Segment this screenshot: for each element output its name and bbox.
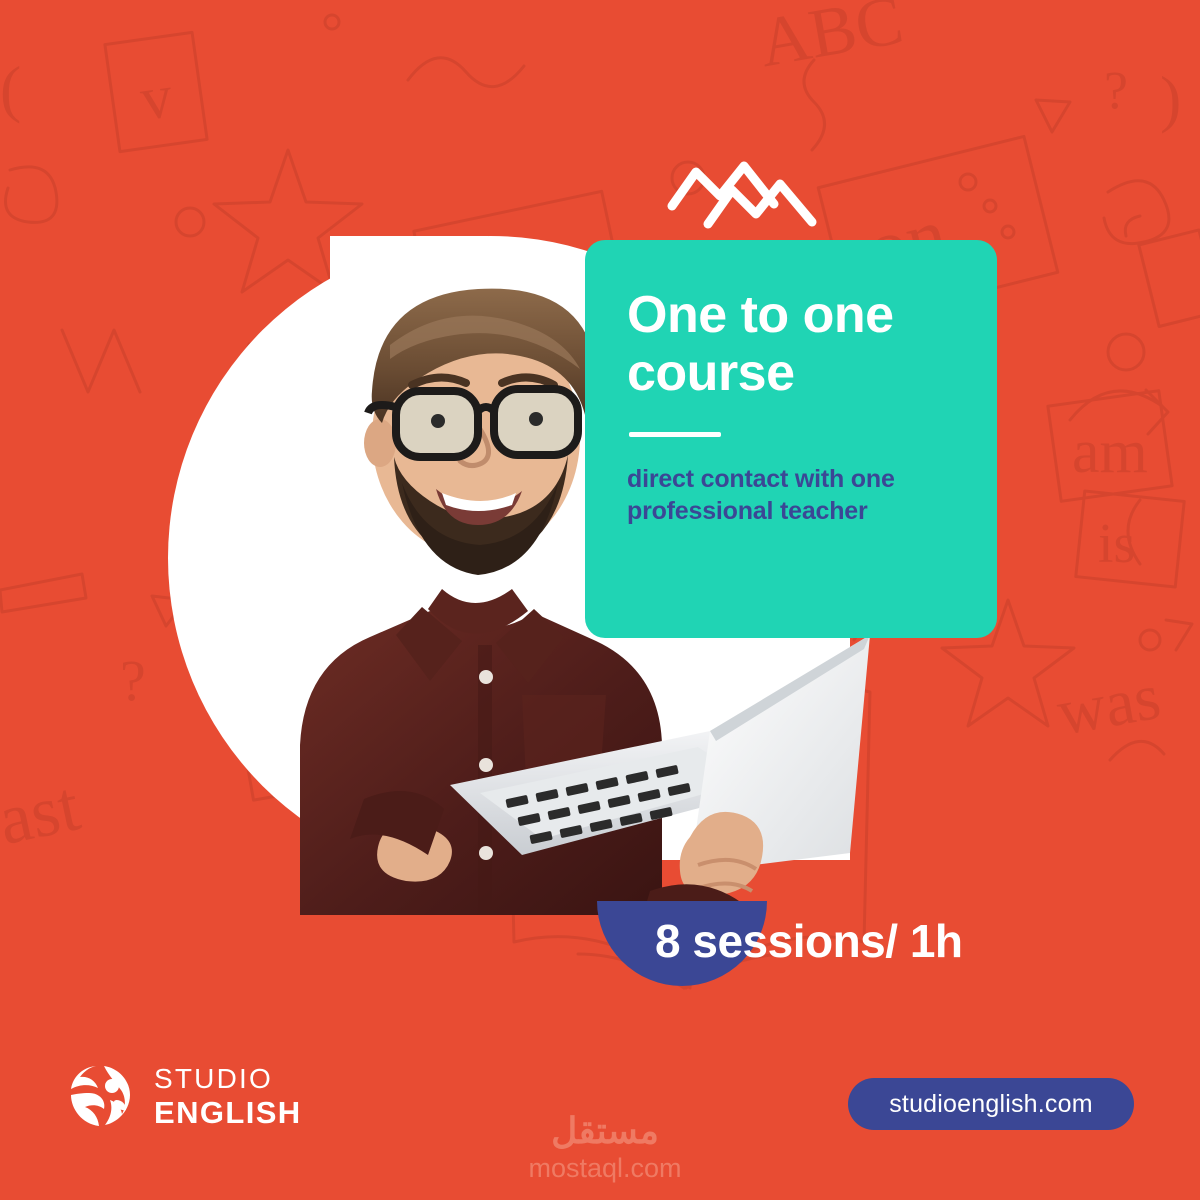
- course-card: One to one course direct contact with on…: [585, 240, 997, 638]
- svg-text:): ): [1160, 63, 1181, 134]
- svg-text:?: ?: [120, 648, 146, 713]
- watermark-latin: mostaql.com: [470, 1152, 740, 1184]
- svg-text:ast: ast: [0, 765, 86, 860]
- studio-english-mark-icon: [68, 1062, 136, 1130]
- mostaql-watermark: مستقل mostaql.com: [470, 1112, 740, 1184]
- svg-text:ABC: ABC: [753, 0, 908, 82]
- logo-line-1: STUDIO: [154, 1065, 302, 1093]
- svg-text:?: ?: [1104, 60, 1128, 120]
- svg-text:(: (: [0, 53, 21, 124]
- website-pill[interactable]: studioenglish.com: [848, 1078, 1134, 1130]
- svg-text:was: was: [1052, 660, 1166, 750]
- svg-text:v: v: [136, 62, 176, 134]
- double-wave-squiggle-icon: [666, 150, 856, 230]
- card-title: One to one course: [627, 286, 957, 402]
- svg-text:is: is: [1098, 513, 1135, 575]
- sessions-label: 8 sessions/ 1h: [585, 911, 1105, 971]
- logo-line-2: ENGLISH: [154, 1097, 302, 1128]
- website-url-label: studioenglish.com: [889, 1090, 1093, 1119]
- card-subtitle: direct contact with one professional tea…: [627, 463, 957, 527]
- watermark-arabic: مستقل: [470, 1112, 740, 1150]
- svg-text:am: am: [1072, 418, 1148, 486]
- poster-canvas: v in ABC on Do -s: [0, 0, 1200, 1200]
- card-divider: [629, 432, 721, 437]
- brand-logo: STUDIO ENGLISH: [68, 1062, 302, 1130]
